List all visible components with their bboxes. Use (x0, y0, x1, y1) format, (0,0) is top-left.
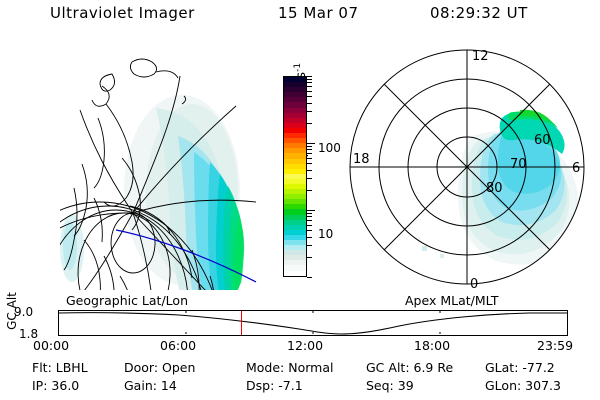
colorbar-ticks (307, 76, 315, 277)
colorbar-tick-7 (307, 220, 312, 221)
colorbar-group: photon cm-2s-1 100 10 (262, 60, 357, 295)
mlat-label-70: 70 (510, 157, 527, 172)
time-tick-2359: 23:59 (537, 338, 573, 353)
colorbar-tick-label-10: 10 (318, 227, 333, 241)
colorbar-tick-200 (307, 123, 312, 124)
colorbar-tick-800 (307, 82, 312, 83)
colorbar-tick-label-100: 100 (318, 141, 341, 155)
colorbar-tick-2 (307, 257, 312, 258)
time-tick-1800: 18:00 (414, 338, 450, 353)
status-door: Door: Open (124, 360, 195, 375)
colorbar-band-38 (284, 271, 306, 276)
colorbar-tick-70 (307, 153, 312, 154)
colorbar-tick-9 (307, 213, 312, 214)
colorbar-tick-1 (307, 277, 312, 278)
time-tick-0600: 06:00 (160, 338, 196, 353)
mlt-label-6: 6 (572, 161, 580, 176)
colorbar-tick-900 (307, 79, 312, 80)
colorbar-tick-300 (307, 111, 312, 112)
colorbar-scale[interactable] (283, 76, 307, 277)
colorbar-tick-100 (307, 143, 315, 144)
mlt-spokes (350, 50, 584, 284)
colorbar-tick-6 (307, 225, 312, 226)
status-readout-block: Flt: LBHL IP: 36.0 Door: Open Gain: 14 M… (0, 360, 600, 400)
time-tick-1200: 12:00 (287, 338, 323, 353)
altitude-curve-svg (59, 311, 567, 335)
mlt-label-12: 12 (472, 49, 489, 64)
observation-date: 15 Mar 07 (278, 4, 359, 22)
colorbar-tick-600 (307, 91, 312, 92)
status-gain: Gain: 14 (124, 378, 177, 393)
colorbar-tick-10 (307, 210, 315, 211)
colorbar-tick-4 (307, 237, 312, 238)
colorbar-tick-80 (307, 149, 312, 150)
colorbar-tick-50 (307, 163, 312, 164)
status-ip: IP: 36.0 (32, 378, 79, 393)
page-title: Ultraviolet Imager (50, 4, 195, 22)
status-glon: GLon: 307.3 (485, 378, 561, 393)
colorbar-tick-700 (307, 86, 312, 87)
status-seq: Seq: 39 (366, 378, 414, 393)
mlat-label-60: 60 (534, 133, 551, 148)
geographic-globe-svg (60, 40, 265, 290)
colorbar-tick-5 (307, 230, 312, 231)
colorbar-tick-8 (307, 216, 312, 217)
colorbar-tick-20 (307, 190, 312, 191)
altitude-profile-plot[interactable] (58, 310, 568, 336)
status-gc-alt: GC Alt: 6.9 Re (366, 360, 453, 375)
header-bar: Ultraviolet Imager 15 Mar 07 08:29:32 UT (0, 4, 600, 30)
geographic-image-panel[interactable] (60, 40, 265, 290)
colorbar-unit-exp2: -1 (293, 63, 303, 72)
status-glat: GLat: -77.2 (485, 360, 555, 375)
current-time-marker (241, 311, 242, 335)
colorbar-tick-1000 (307, 76, 312, 77)
status-dsp: Dsp: -7.1 (246, 378, 303, 393)
colorbar-tick-30 (307, 178, 312, 179)
observation-time: 08:29:32 UT (430, 4, 528, 22)
mlt-label-18: 18 (353, 152, 370, 167)
status-filter: Flt: LBHL (32, 360, 88, 375)
apex-polar-svg: 12 6 0 18 60 70 80 (348, 40, 594, 292)
colorbar-tick-3 (307, 245, 312, 246)
colorbar-tick-60 (307, 158, 312, 159)
altitude-timeline-strip[interactable]: Geographic Lat/Lon Apex MLat/MLT GC Alt … (0, 293, 600, 355)
colorbar-tick-500 (307, 96, 312, 97)
colorbar-tick-40 (307, 170, 312, 171)
mlt-label-0: 0 (470, 277, 478, 292)
status-mode: Mode: Normal (246, 360, 333, 375)
apex-polar-panel[interactable]: 12 6 0 18 60 70 80 (348, 40, 594, 292)
colorbar-tick-90 (307, 146, 312, 147)
colorbar-gradient (284, 77, 306, 276)
mlat-label-80: 80 (486, 181, 503, 196)
time-tick-0000: 00:00 (33, 338, 69, 353)
colorbar-tick-400 (307, 103, 312, 104)
